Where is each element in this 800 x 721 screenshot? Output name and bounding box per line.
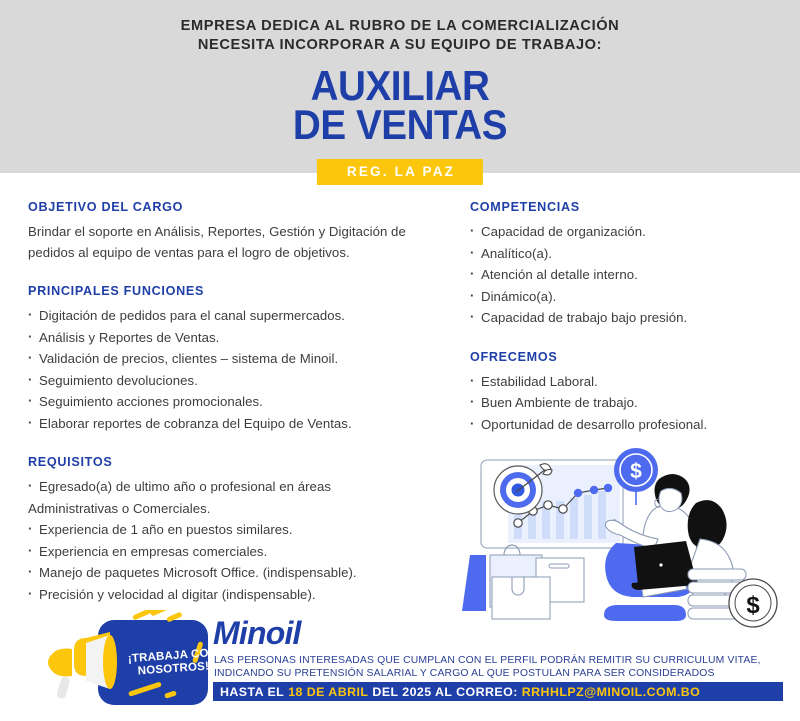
deadline-middle: DEL 2025 AL CORREO: [372, 685, 517, 699]
list-item: Elaborar reportes de cobranza del Equipo… [28, 413, 438, 435]
section-title-competencias: COMPETENCIAS [470, 200, 780, 214]
section-title-funciones: PRINCIPALES FUNCIONES [28, 284, 438, 298]
section-ofrecemos: OFRECEMOS Estabilidad Laboral. Buen Ambi… [470, 350, 780, 436]
section-title-objetivo: OBJETIVO DEL CARGO [28, 200, 438, 214]
section-competencias: COMPETENCIAS Capacidad de organización. … [470, 200, 780, 329]
list-item: Analítico(a). [470, 243, 780, 265]
objetivo-paragraph: Brindar el soporte en Análisis, Reportes… [28, 221, 438, 263]
list-item: Seguimiento acciones promocionales. [28, 391, 438, 413]
header-subtitle-line1: EMPRESA DEDICA AL RUBRO DE LA COMERCIALI… [0, 17, 800, 36]
list-item: Manejo de paquetes Microsoft Office. (in… [28, 562, 438, 584]
page-title-line2: DE VENTAS [32, 105, 768, 144]
deadline-date: 18 DE ABRIL [288, 685, 368, 699]
list-item: Atención al detalle interno. [470, 264, 780, 286]
list-item: Validación de precios, clientes – sistem… [28, 348, 438, 370]
section-funciones: PRINCIPALES FUNCIONES Digitación de pedi… [28, 284, 438, 434]
page-title-line1: AUXILIAR [32, 66, 768, 105]
requisitos-list: Egresado(a) de ultimo año o profesional … [28, 476, 438, 605]
region-badge: REG. LA PAZ [317, 159, 483, 185]
list-item: Digitación de pedidos para el canal supe… [28, 305, 438, 327]
list-item: Experiencia en empresas comerciales. [28, 541, 438, 563]
company-logo: Minoil [213, 615, 301, 652]
svg-text:$: $ [630, 460, 642, 483]
page-title: AUXILIAR DE VENTAS [32, 66, 768, 144]
list-item: Buen Ambiente de trabajo. [470, 392, 780, 414]
megaphone-badge: ¡TRABAJA CON NOSOTROS! [40, 610, 215, 715]
section-requisitos: REQUISITOS Egresado(a) de ultimo año o p… [28, 455, 438, 605]
deadline-contact-bar: HASTA EL 18 DE ABRIL DEL 2025 AL CORREO:… [213, 682, 783, 701]
right-column: COMPETENCIAS Capacidad de organización. … [470, 200, 780, 456]
footer: ¡TRABAJA CON NOSOTROS! Minoil LAS PERSON… [0, 600, 800, 721]
list-item: Seguimiento devoluciones. [28, 370, 438, 392]
application-instructions: LAS PERSONAS INTERESADAS QUE CUMPLAN CON… [214, 654, 779, 681]
ofrecemos-list: Estabilidad Laboral. Buen Ambiente de tr… [470, 371, 780, 436]
section-title-ofrecemos: OFRECEMOS [470, 350, 780, 364]
list-item-continuation: Administrativas o Comerciales. [28, 498, 438, 520]
deadline-prefix: HASTA EL [220, 685, 284, 699]
section-objetivo: OBJETIVO DEL CARGO Brindar el soporte en… [28, 200, 438, 263]
list-item: Estabilidad Laboral. [470, 371, 780, 393]
application-instructions-line2: INDICANDO SU PRETENSIÓN SALARIAL Y CARGO… [214, 667, 779, 680]
list-item: Oportunidad de desarrollo profesional. [470, 414, 780, 436]
funciones-list: Digitación de pedidos para el canal supe… [28, 305, 438, 434]
application-instructions-line1: LAS PERSONAS INTERESADAS QUE CUMPLAN CON… [214, 654, 779, 667]
list-item: Capacidad de organización. [470, 221, 780, 243]
section-title-requisitos: REQUISITOS [28, 455, 438, 469]
list-item: Análisis y Reportes de Ventas. [28, 327, 438, 349]
list-item: Egresado(a) de ultimo año o profesional … [28, 476, 438, 498]
job-posting-poster: EMPRESA DEDICA AL RUBRO DE LA COMERCIALI… [0, 0, 800, 721]
header-subtitle: EMPRESA DEDICA AL RUBRO DE LA COMERCIALI… [0, 17, 800, 55]
contact-email[interactable]: RRHHLPZ@MINOIL.COM.BO [522, 685, 700, 699]
list-item: Experiencia de 1 año en puestos similare… [28, 519, 438, 541]
left-column: OBJETIVO DEL CARGO Brindar el soporte en… [28, 200, 438, 626]
list-item: Dinámico(a). [470, 286, 780, 308]
list-item: Capacidad de trabajo bajo presión. [470, 307, 780, 329]
header-subtitle-line2: NECESITA INCORPORAR A SU EQUIPO DE TRABA… [0, 36, 800, 55]
competencias-list: Capacidad de organización. Analítico(a).… [470, 221, 780, 329]
